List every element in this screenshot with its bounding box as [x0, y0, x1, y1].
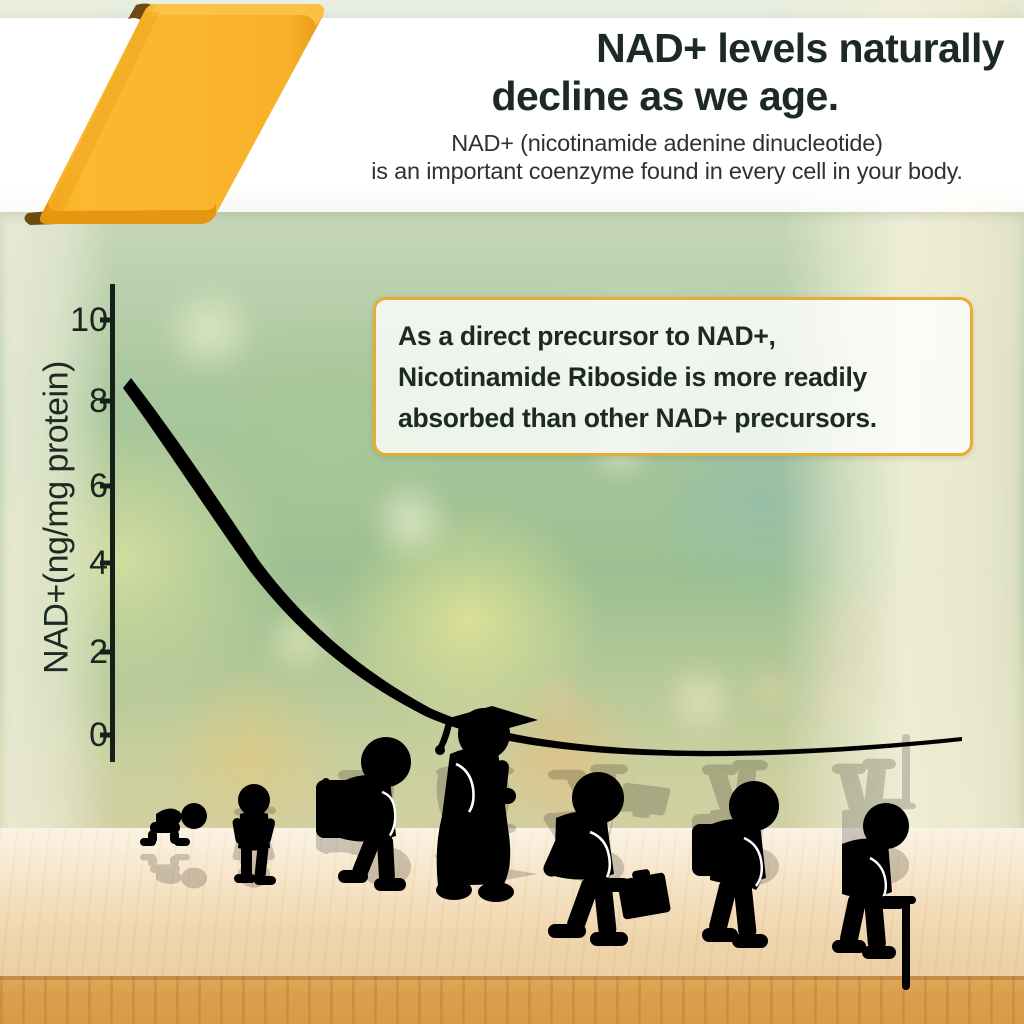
figure-crawling-baby [140, 803, 207, 846]
page-subtitle: NAD+ (nicotinamide adenine dinucleotide)… [330, 129, 1004, 185]
ribbon-svg [0, 0, 340, 230]
headline-line-1: NAD+ levels naturally [596, 25, 1004, 71]
ribbon-banner [0, 0, 340, 230]
subtitle-line-2: is an important coenzyme found in every … [330, 157, 1004, 185]
infographic-canvas: NAD+(ng/mg protein) 10 8 6 4 2 0 [0, 0, 1024, 1024]
ribbon-body [40, 4, 324, 224]
headline-line-2: decline as we age. [330, 72, 1004, 120]
figure-silhouettes [140, 706, 916, 990]
subtitle-line-1: NAD+ (nicotinamide adenine dinucleotide) [330, 129, 1004, 157]
page-title: NAD+ levels naturally decline as we age. [330, 24, 1004, 120]
